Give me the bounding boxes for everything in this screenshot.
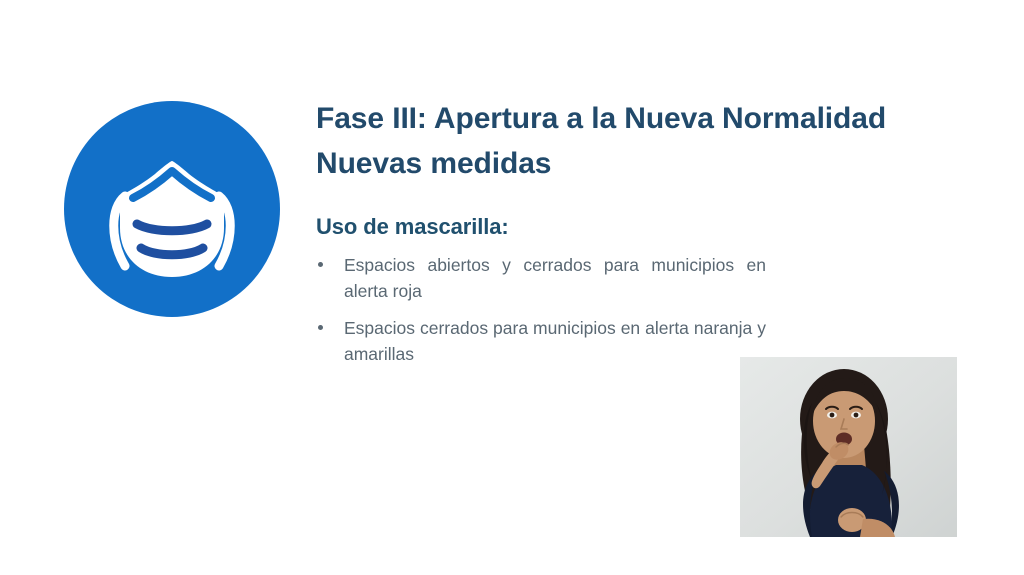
face-mask-icon — [63, 100, 281, 318]
bullet-list: Espacios abiertos y cerrados para munici… — [316, 252, 766, 367]
bullet-dot-icon — [318, 262, 323, 267]
list-item-label: Espacios abiertos y cerrados para munici… — [344, 252, 766, 304]
slide-text-block: Fase III: Apertura a la Nueva Normalidad… — [316, 96, 956, 367]
sign-language-interpreter-video — [740, 357, 957, 537]
bullet-dot-icon — [318, 325, 323, 330]
presentation-slide: Fase III: Apertura a la Nueva Normalidad… — [0, 0, 1024, 575]
list-item-label: Espacios cerrados para municipios en ale… — [344, 315, 766, 367]
page-title: Fase III: Apertura a la Nueva Normalidad… — [316, 96, 956, 186]
title-line-1: Fase III: Apertura a la Nueva Normalidad — [316, 96, 956, 141]
section-subtitle: Uso de mascarilla: — [316, 212, 956, 242]
list-item: Espacios abiertos y cerrados para munici… — [316, 252, 766, 304]
title-line-2: Nuevas medidas — [316, 141, 956, 186]
list-item: Espacios cerrados para municipios en ale… — [316, 315, 766, 367]
